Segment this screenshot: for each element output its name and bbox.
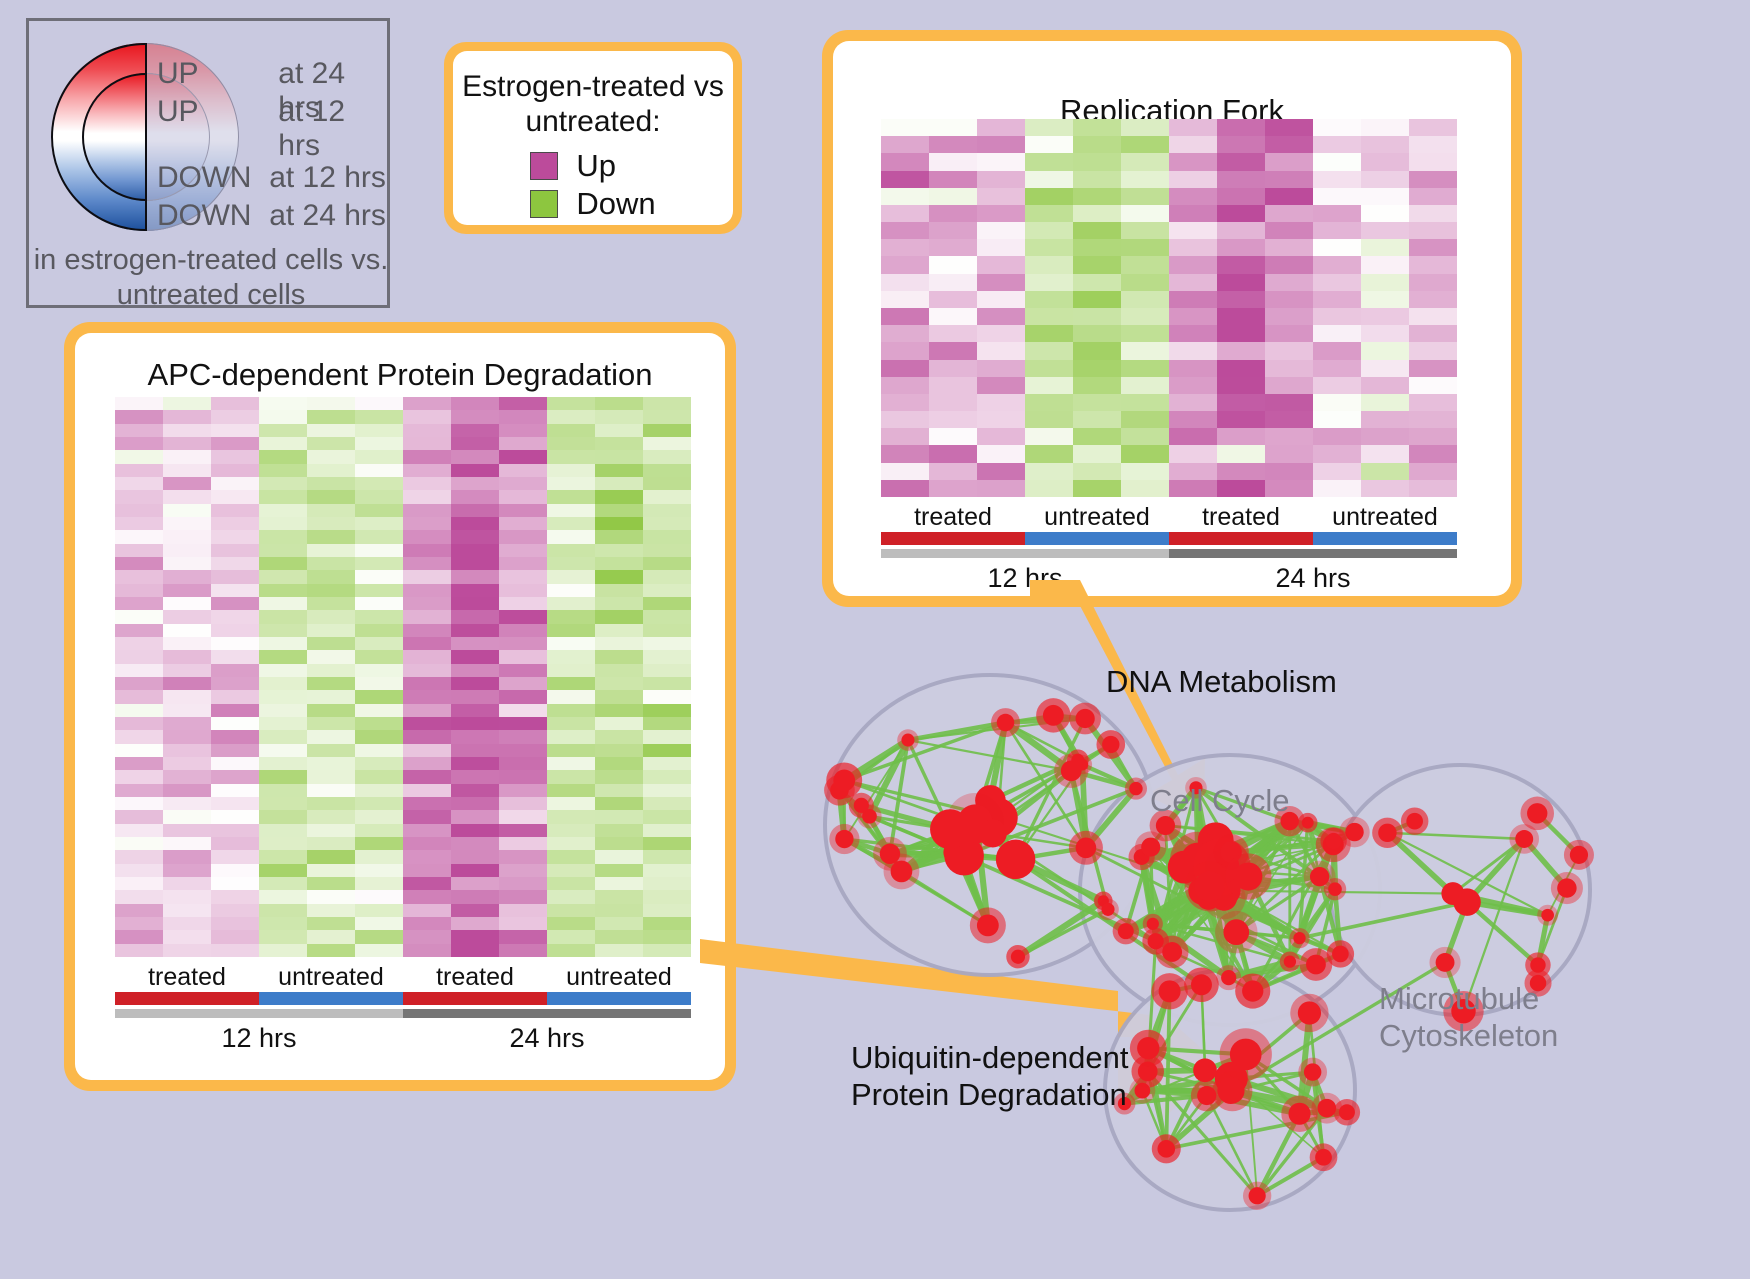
network-node[interactable] xyxy=(1242,980,1263,1001)
network-node[interactable] xyxy=(1304,1063,1321,1080)
network-node[interactable] xyxy=(1317,1099,1336,1118)
network-node[interactable] xyxy=(1223,919,1249,945)
annotation-apc-degradation: treateduntreatedtreateduntreated 12 hrs2… xyxy=(115,963,691,1054)
annotation-replication-fork: treateduntreatedtreateduntreated 12 hrs2… xyxy=(881,503,1457,594)
legend-item-up: Up xyxy=(530,148,655,184)
legend-value: at 12 hrs xyxy=(269,161,386,195)
group-color-bar xyxy=(1169,532,1313,545)
network-node[interactable] xyxy=(1159,980,1181,1002)
group-color-bar xyxy=(115,992,259,1005)
network-node[interactable] xyxy=(1102,736,1119,753)
circle-legend-box: UP at 24 hrs UP at 12 hrs DOWN at 12 hrs… xyxy=(26,18,390,308)
network-node[interactable] xyxy=(1191,974,1212,995)
time-label: 12 hrs xyxy=(115,1023,403,1054)
network-node[interactable] xyxy=(1570,846,1588,864)
group-color-bar xyxy=(547,992,691,1005)
network-node[interactable] xyxy=(1101,903,1114,916)
network-node[interactable] xyxy=(1193,1058,1217,1082)
network-node[interactable] xyxy=(996,840,1035,879)
network-node[interactable] xyxy=(1515,830,1533,848)
legend-row-up-12: UP at 12 hrs xyxy=(157,95,387,163)
group-label: untreated xyxy=(1313,503,1457,532)
network-node[interactable] xyxy=(1230,1039,1262,1071)
panel-title: APC-dependent Protein Degradation xyxy=(75,357,725,393)
network-node[interactable] xyxy=(1157,1140,1175,1158)
network-node[interactable] xyxy=(1011,950,1025,964)
network-node[interactable] xyxy=(1118,923,1134,939)
legend-item-down: Down xyxy=(530,186,655,222)
heatmap-apc-degradation xyxy=(115,397,691,957)
legend-row-down-24: DOWN at 24 hrs xyxy=(157,199,386,233)
network-node[interactable] xyxy=(854,798,869,813)
group-color-bar xyxy=(1313,532,1457,545)
cluster-label-dna-metabolism: DNA Metabolism xyxy=(1106,664,1337,701)
cluster-label-microtubule-cytoskeleton: Microtubule Cytoskeleton xyxy=(1379,981,1558,1054)
network-node[interactable] xyxy=(1326,833,1342,849)
network-diagram xyxy=(800,600,1750,1279)
network-node[interactable] xyxy=(1249,1187,1266,1204)
updown-legend-box: Estrogen-treated vs untreated: Up Down xyxy=(444,42,742,234)
cluster-label-ubiquitin-degradation: Ubiquitin-dependent Protein Degradation xyxy=(851,1040,1129,1113)
group-color-bar xyxy=(881,532,1025,545)
legend-row-down-12: DOWN at 12 hrs xyxy=(157,161,386,195)
network-node[interactable] xyxy=(1076,837,1097,858)
panel-replication-fork: Replication Fork treateduntreatedtreated… xyxy=(822,30,1522,607)
network-node[interactable] xyxy=(1378,824,1396,842)
up-label: Up xyxy=(576,148,616,184)
network-node[interactable] xyxy=(1332,946,1349,963)
network-node[interactable] xyxy=(930,809,970,849)
label-line-2: Protein Degradation xyxy=(851,1077,1129,1114)
legend-key: UP xyxy=(157,57,198,91)
network-node[interactable] xyxy=(1288,1103,1310,1125)
cluster-label-cell-cycle: Cell Cycle xyxy=(1150,783,1290,820)
network-node[interactable] xyxy=(1141,838,1160,857)
network-node[interactable] xyxy=(1406,813,1423,830)
network-node[interactable] xyxy=(891,861,913,883)
legend-value: at 24 hrs xyxy=(269,199,386,233)
time-color-bar xyxy=(403,1009,691,1018)
network-node[interactable] xyxy=(1043,705,1064,726)
group-label: untreated xyxy=(259,963,403,992)
time-color-bar xyxy=(1169,549,1457,558)
time-label: 24 hrs xyxy=(403,1023,691,1054)
time-label: 24 hrs xyxy=(1169,563,1457,594)
time-label: 12 hrs xyxy=(881,563,1169,594)
time-color-bar xyxy=(881,549,1169,558)
network-node[interactable] xyxy=(1298,1001,1321,1024)
network-node[interactable] xyxy=(901,734,914,747)
network-node[interactable] xyxy=(1315,1149,1332,1166)
network-clusters xyxy=(825,675,1590,1210)
up-color-swatch xyxy=(530,152,558,180)
legend-key: DOWN xyxy=(157,199,251,233)
down-label: Down xyxy=(576,186,655,222)
network-node[interactable] xyxy=(977,914,999,936)
network-node[interactable] xyxy=(1293,932,1305,944)
network-node[interactable] xyxy=(1221,970,1236,985)
network-node[interactable] xyxy=(1234,862,1262,890)
legend-key: UP xyxy=(157,95,198,129)
network-node[interactable] xyxy=(1197,1086,1216,1105)
network-node[interactable] xyxy=(1436,953,1455,972)
network-node[interactable] xyxy=(833,770,855,792)
network-node[interactable] xyxy=(1195,871,1225,901)
circle-legend-caption: in estrogen-treated cells vs. untreated … xyxy=(29,243,393,313)
time-color-bar xyxy=(115,1009,403,1018)
network-node[interactable] xyxy=(1527,803,1547,823)
network-node[interactable] xyxy=(1310,867,1329,886)
down-color-swatch xyxy=(530,190,558,218)
panel-apc-degradation: APC-dependent Protein Degradation treate… xyxy=(64,322,736,1091)
network-node[interactable] xyxy=(1162,942,1182,962)
network-node[interactable] xyxy=(1137,1037,1159,1059)
circle-vertical-divider xyxy=(145,43,147,231)
group-label: treated xyxy=(1169,503,1313,532)
network-node[interactable] xyxy=(1147,918,1159,930)
network-node[interactable] xyxy=(1541,909,1554,922)
group-label: treated xyxy=(115,963,259,992)
label-line-2: Cytoskeleton xyxy=(1379,1018,1558,1055)
group-color-bar xyxy=(1025,532,1169,545)
label-line-1: Ubiquitin-dependent xyxy=(851,1040,1129,1077)
group-label: treated xyxy=(403,963,547,992)
updown-legend-title: Estrogen-treated vs untreated: xyxy=(453,69,733,140)
network-node[interactable] xyxy=(1284,955,1296,967)
network-node[interactable] xyxy=(835,830,853,848)
network-node[interactable] xyxy=(1339,1104,1355,1120)
heatmap-replication-fork xyxy=(881,119,1457,497)
group-label: treated xyxy=(881,503,1025,532)
legend-value: at 12 hrs xyxy=(278,95,387,163)
group-color-bar xyxy=(403,992,547,1005)
network-node[interactable] xyxy=(979,819,1007,847)
group-label: untreated xyxy=(1025,503,1169,532)
label-line-1: Microtubule xyxy=(1379,981,1558,1018)
network-node[interactable] xyxy=(1557,878,1576,897)
legend-key: DOWN xyxy=(157,161,251,195)
network-node[interactable] xyxy=(1217,1077,1244,1104)
network-node[interactable] xyxy=(1061,760,1082,781)
network-node[interactable] xyxy=(1306,955,1326,975)
group-label: untreated xyxy=(547,963,691,992)
network-node[interactable] xyxy=(997,714,1015,732)
network-node[interactable] xyxy=(1076,709,1095,728)
network-node[interactable] xyxy=(1129,782,1142,795)
network-node[interactable] xyxy=(1453,888,1480,915)
group-color-bar xyxy=(259,992,403,1005)
